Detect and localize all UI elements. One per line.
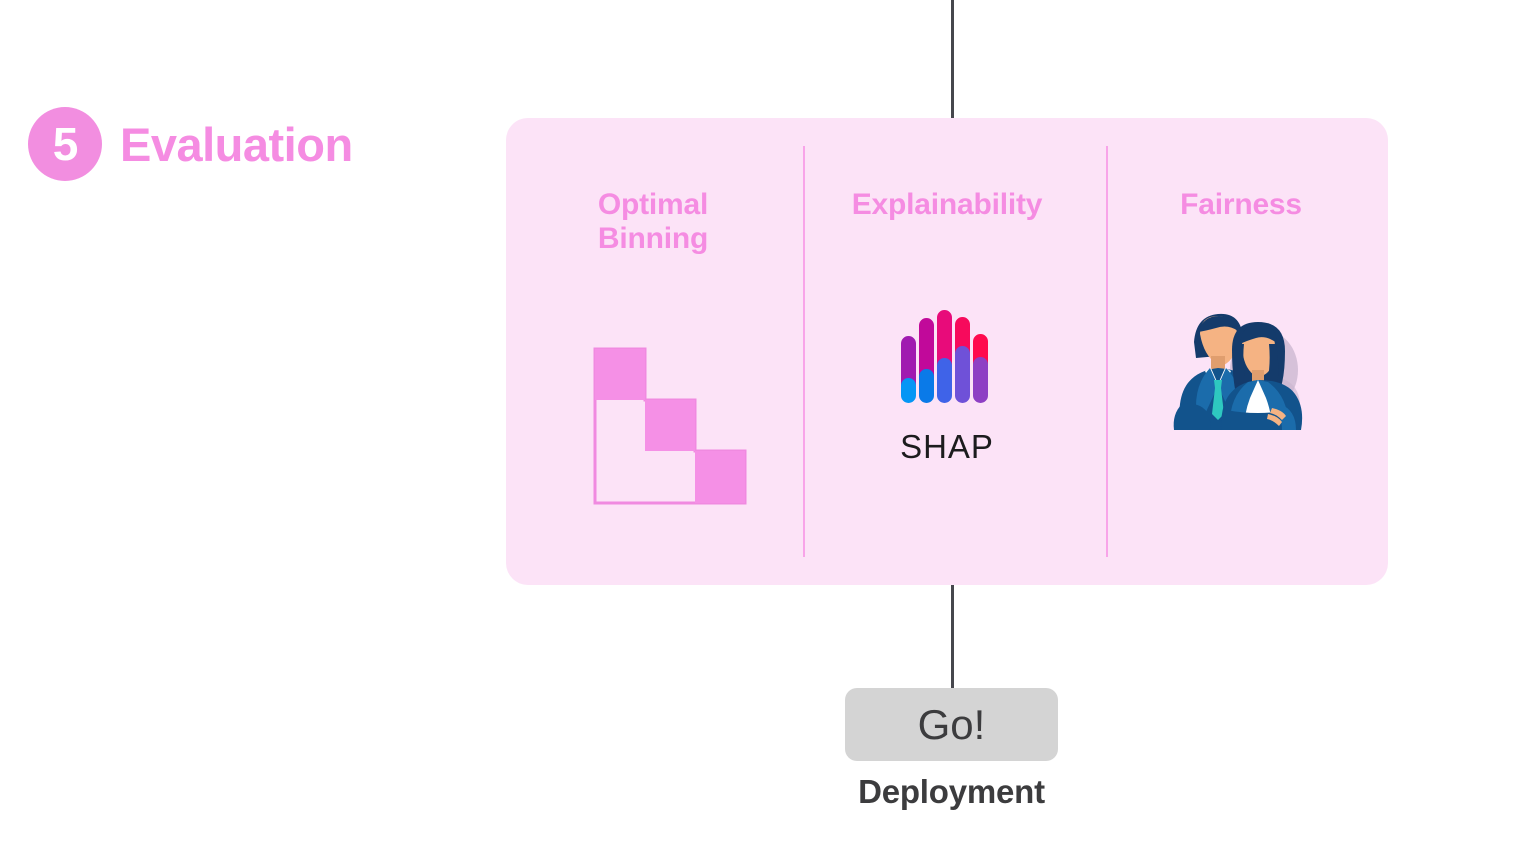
diagram-canvas: 5 Evaluation Optimal Binning Explainabil…	[0, 0, 1540, 867]
card-column-fairness[interactable]: Fairness	[1094, 118, 1388, 585]
deployment-group: Go! Deployment	[845, 688, 1058, 808]
column-heading-optimal-binning: Optimal Binning	[598, 188, 708, 255]
step-title: Evaluation	[120, 121, 353, 168]
evaluation-card: Optimal Binning Explainability	[506, 118, 1388, 585]
staircase-binning-chart-icon	[593, 347, 747, 505]
two-business-people-icon	[1168, 304, 1314, 430]
step-number-badge: 5	[28, 107, 102, 181]
card-column-explainability[interactable]: Explainability SHAP	[800, 118, 1094, 585]
step-label: 5 Evaluation	[28, 107, 353, 181]
go-button[interactable]: Go!	[845, 688, 1058, 761]
shap-caption: SHAP	[900, 430, 994, 463]
column-heading-explainability: Explainability	[852, 188, 1043, 222]
step-number: 5	[53, 121, 78, 167]
card-column-optimal-binning[interactable]: Optimal Binning	[506, 118, 800, 585]
connector-line-bottom	[951, 585, 954, 688]
shap-block: SHAP	[800, 308, 1094, 463]
shap-logo-icon	[900, 308, 994, 404]
connector-line-top	[951, 0, 954, 119]
column-heading-fairness: Fairness	[1180, 188, 1302, 222]
deployment-label: Deployment	[858, 775, 1045, 808]
go-button-label: Go!	[918, 704, 986, 746]
